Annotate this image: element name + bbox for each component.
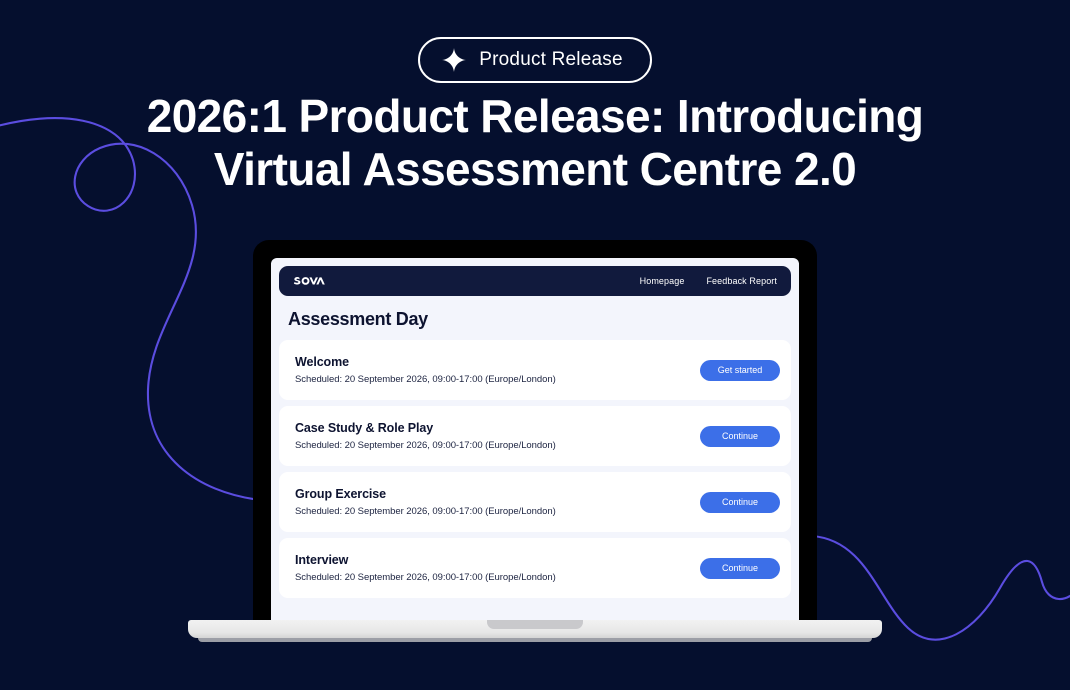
continue-button[interactable]: Continue [700,426,780,447]
app-navbar: Homepage Feedback Report [279,266,791,296]
card-text: Interview Scheduled: 20 September 2026, … [295,553,556,583]
nav-link-homepage[interactable]: Homepage [640,276,685,286]
continue-button[interactable]: Continue [700,492,780,513]
laptop-lid: Homepage Feedback Report Assessment Day … [253,240,817,620]
get-started-button[interactable]: Get started [700,360,780,381]
product-release-badge: Product Release [418,37,651,83]
product-release-badge-container: Product Release [0,37,1070,83]
assessment-card-group-exercise[interactable]: Group Exercise Scheduled: 20 September 2… [279,472,791,532]
page-title: Assessment Day [288,309,799,330]
card-schedule: Scheduled: 20 September 2026, 09:00-17:0… [295,374,556,385]
laptop-mockup: Homepage Feedback Report Assessment Day … [253,240,817,620]
badge-label: Product Release [479,49,622,71]
card-title: Group Exercise [295,487,556,501]
card-text: Case Study & Role Play Scheduled: 20 Sep… [295,421,556,451]
card-title: Welcome [295,355,556,369]
sparkle-icon [442,48,466,72]
assessment-card-list: Welcome Scheduled: 20 September 2026, 09… [279,340,791,598]
assessment-card-case-study-role-play[interactable]: Case Study & Role Play Scheduled: 20 Sep… [279,406,791,466]
card-text: Welcome Scheduled: 20 September 2026, 09… [295,355,556,385]
continue-button[interactable]: Continue [700,558,780,579]
nav-links: Homepage Feedback Report [640,276,777,286]
page-headline: 2026:1 Product Release: Introducing Virt… [85,90,985,196]
card-schedule: Scheduled: 20 September 2026, 09:00-17:0… [295,440,556,451]
laptop-base-shadow [198,638,872,642]
assessment-card-interview[interactable]: Interview Scheduled: 20 September 2026, … [279,538,791,598]
assessment-card-welcome[interactable]: Welcome Scheduled: 20 September 2026, 09… [279,340,791,400]
card-text: Group Exercise Scheduled: 20 September 2… [295,487,556,517]
card-title: Interview [295,553,556,567]
laptop-screen: Homepage Feedback Report Assessment Day … [271,258,799,620]
sova-logo [293,275,345,288]
card-title: Case Study & Role Play [295,421,556,435]
nav-link-feedback-report[interactable]: Feedback Report [706,276,777,286]
card-schedule: Scheduled: 20 September 2026, 09:00-17:0… [295,572,556,583]
card-schedule: Scheduled: 20 September 2026, 09:00-17:0… [295,506,556,517]
laptop-base [188,620,882,638]
